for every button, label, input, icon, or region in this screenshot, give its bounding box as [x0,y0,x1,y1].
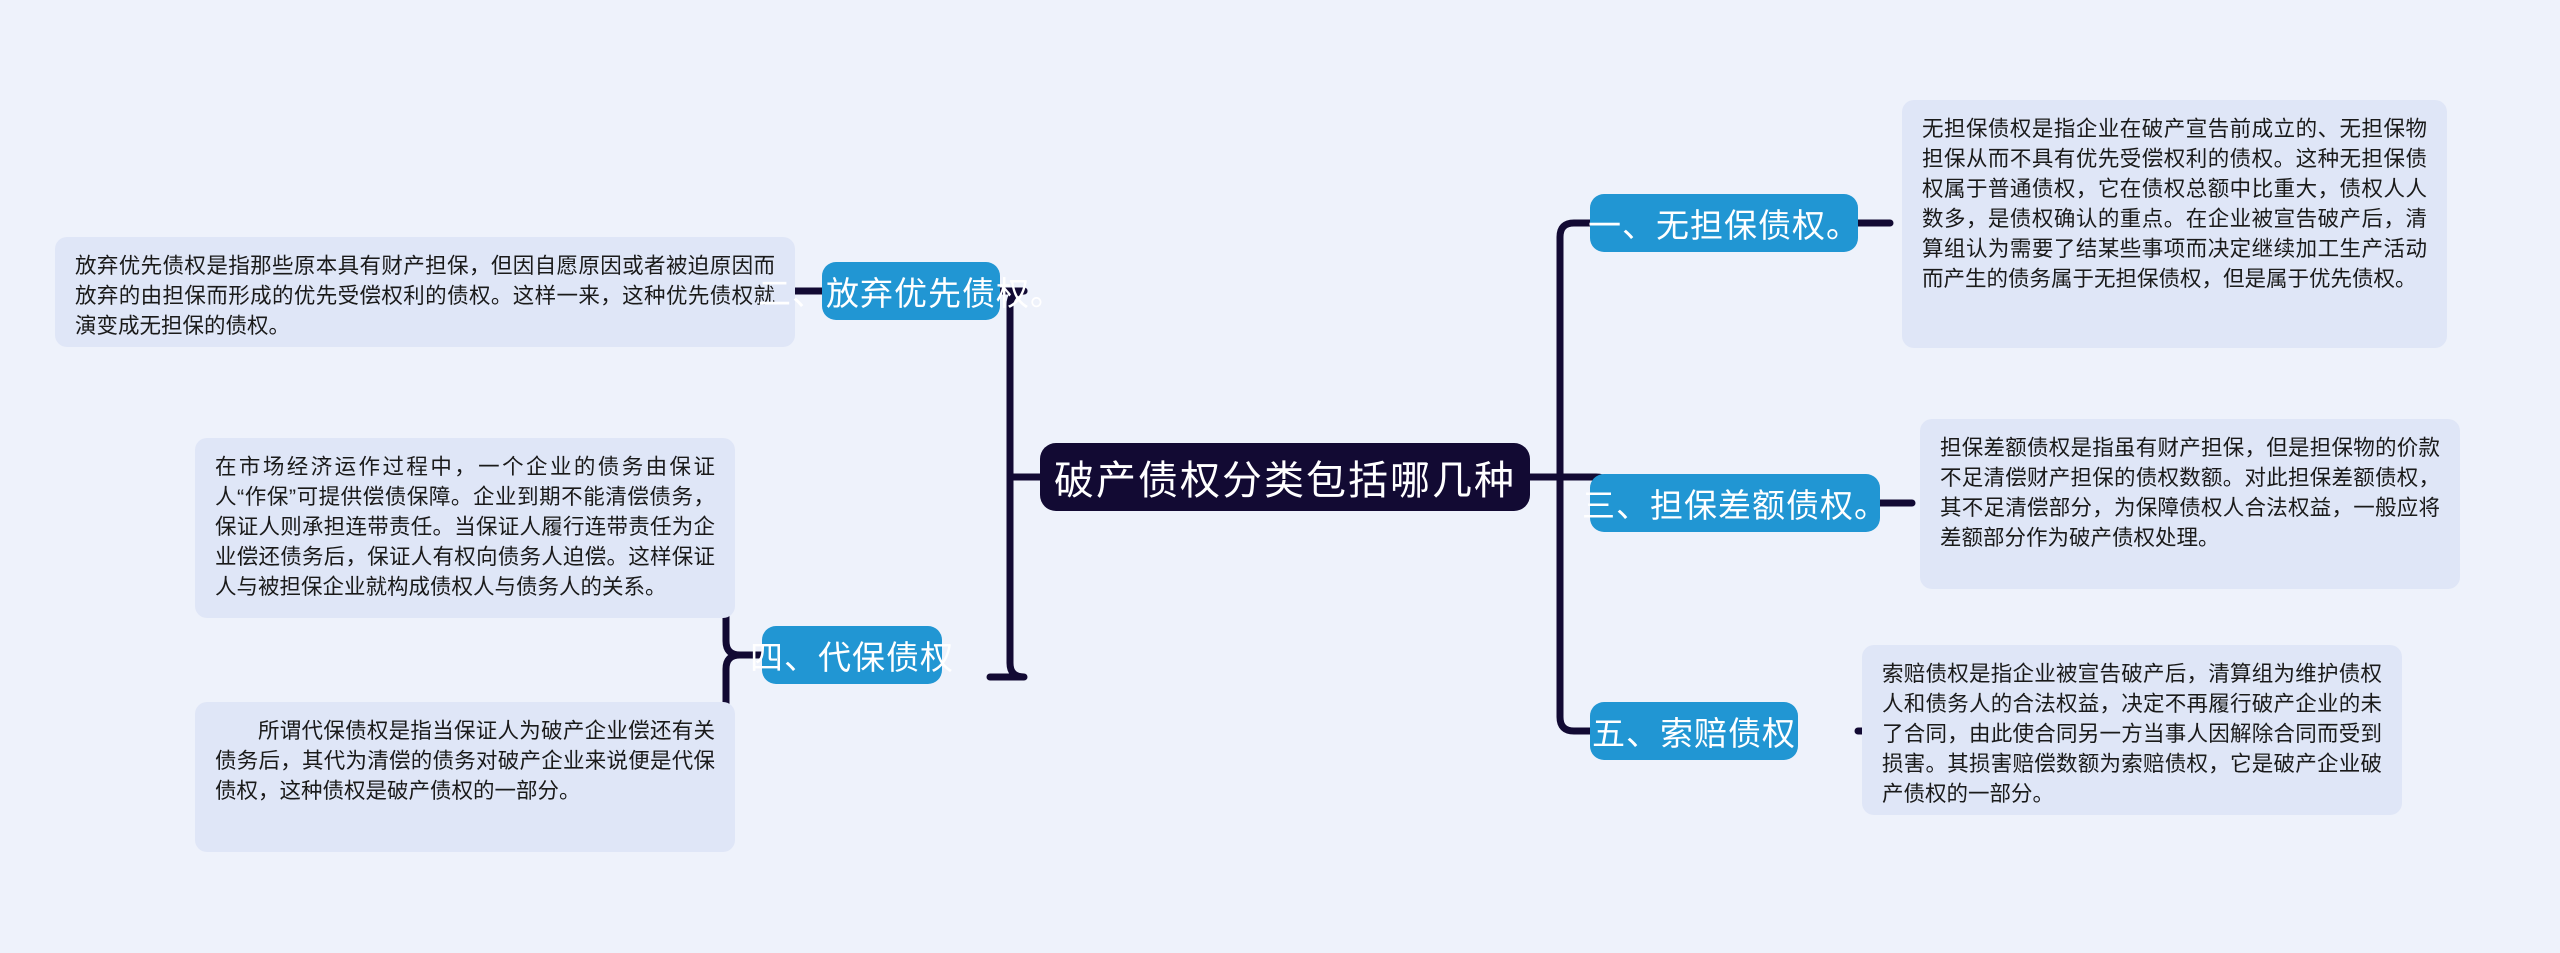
desc-right-0-0: 无担保债权是指企业在破产宣告前成立的、无担保物担保从而不具有优先受偿权利的债权。… [1902,100,2447,348]
branch-node-right-0-label: 一、无担保债权。 [1588,199,1860,247]
center-node[interactable]: 破产债权分类包括哪几种 [1040,443,1530,511]
desc-left-1-1: 所谓代保债权是指当保证人为破产企业偿还有关债务后，其代为清偿的债务对破产企业来说… [195,702,735,852]
desc-left-1-0: 在市场经济运作过程中，一个企业的债务由保证人“作保”可提供偿债保障。企业到期不能… [195,438,735,618]
mindmap-canvas: 破产债权分类包括哪几种 二、放弃优先债权。 放弃优先债权是指那些原本具有财产担保… [0,0,2560,953]
branch-node-right-2-label: 五、索赔债权 [1592,707,1796,755]
branch-node-left-0-label: 二、放弃优先债权。 [758,267,1064,315]
branch-node-right-1[interactable]: 三、担保差额债权。 [1590,474,1880,532]
branch-node-right-1-label: 三、担保差额债权。 [1582,479,1888,527]
branch-node-right-0[interactable]: 一、无担保债权。 [1590,194,1858,252]
desc-right-1-0: 担保差额债权是指虽有财产担保，但是担保物的价款不足清偿财产担保的债权数额。对此担… [1920,419,2460,589]
desc-right-2-0: 索赔债权是指企业被宣告破产后，清算组为维护债权人和债务人的合法权益，决定不再履行… [1862,645,2402,815]
desc-left-0-0: 放弃优先债权是指那些原本具有财产担保，但因自愿原因或者被迫原因而放弃的由担保而形… [55,237,795,347]
branch-node-left-1[interactable]: 四、代保债权 [762,626,942,684]
branch-node-left-1-label: 四、代保债权 [750,631,954,679]
center-node-label: 破产债权分类包括哪几种 [1054,448,1516,506]
branch-node-right-2[interactable]: 五、索赔债权 [1590,702,1798,760]
branch-node-left-0[interactable]: 二、放弃优先债权。 [822,262,1000,320]
